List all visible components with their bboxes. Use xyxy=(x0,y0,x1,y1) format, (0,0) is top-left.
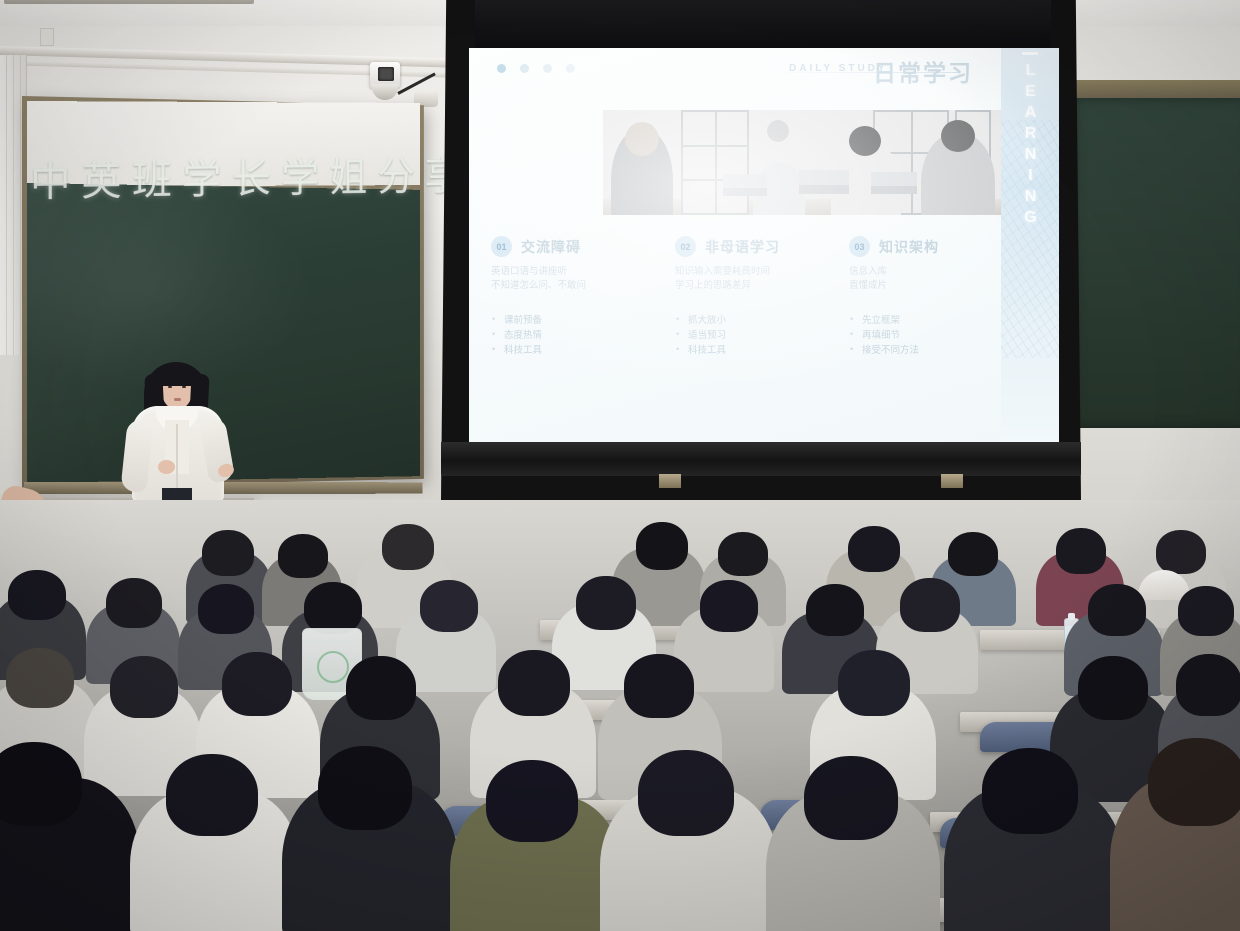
audience-head-r3-5 xyxy=(624,654,694,718)
column-2-bullet-3: 科技工具 xyxy=(675,343,843,358)
audience-head-r4-0 xyxy=(0,742,82,826)
photo-head-2 xyxy=(767,120,789,142)
audience-head-r4-4 xyxy=(638,750,734,836)
audience-head-r1-3 xyxy=(382,524,434,570)
presenter-eye-left xyxy=(168,386,172,388)
column-3-bullet-2: 再填细节 xyxy=(849,328,1017,343)
screen-foot-left xyxy=(659,474,681,488)
column-1-bullet-2: 态度热情 xyxy=(491,328,659,343)
column-3-desc: 信息入库 直懂成片 xyxy=(849,265,1017,293)
column-3-bullet-1: 先立框架 xyxy=(849,313,1017,328)
audience-head-r3-1 xyxy=(110,656,178,718)
presenter-coat-seam xyxy=(176,424,178,496)
presenter-hand-left xyxy=(158,460,175,474)
column-2-desc: 知识输入需要耗费时间 学习上的思路差异 xyxy=(675,265,843,293)
column-3-desc-line-1: 信息入库 xyxy=(849,265,1017,279)
slide-photo xyxy=(603,110,1003,215)
column-3-bullet-3: 接受不同方法 xyxy=(849,343,1017,358)
audience-head-r3-4 xyxy=(498,650,570,716)
lecture-hall-photo: 中英班学长学姐分享 科技工具 科技工具 接受不同方法 DAILY STUDY xyxy=(0,0,1240,931)
audience-head-r2-4 xyxy=(420,580,478,632)
audience-head-r1-5 xyxy=(718,532,768,576)
column-1-title: 交流障碍 xyxy=(521,237,581,257)
column-3-badge: 03 xyxy=(849,236,870,257)
photo-laptop-2 xyxy=(799,170,849,194)
column-2-badge: 02 xyxy=(675,236,696,257)
column-1-desc: 英语口语与讲座听 不知道怎么问、不敢问 xyxy=(491,265,659,293)
column-1-desc-line-1: 英语口语与讲座听 xyxy=(491,265,659,279)
slide-column-3: 03 知识架构 信息入库 直懂成片 先立框架 再填细节 接受不同方法 xyxy=(849,236,1017,358)
audience-head-r2-8 xyxy=(900,578,960,632)
audience-head-r1-8 xyxy=(1056,528,1106,574)
audience-head-r2-1 xyxy=(106,578,162,628)
column-3-header: 03 知识架构 xyxy=(849,236,1017,257)
wall-plate xyxy=(40,28,54,46)
side-panel-bar xyxy=(1022,52,1038,55)
slide-dot-4 xyxy=(566,64,575,73)
column-2-desc-line-1: 知识输入需要耗费时间 xyxy=(675,265,843,279)
audience-head-r1-7 xyxy=(948,532,998,576)
audience-head-r3-8 xyxy=(1176,654,1240,716)
audience-head-r2-10 xyxy=(1178,586,1234,636)
photo-head-4 xyxy=(941,120,975,152)
column-3-title: 知识架构 xyxy=(879,237,939,257)
audience-head-r2-0 xyxy=(8,570,66,620)
column-2-bullets: 抓大放小 适当预习 科技工具 xyxy=(675,313,843,358)
audience-head-r4-7 xyxy=(1148,738,1240,826)
column-2-header: 02 非母语学习 xyxy=(675,236,843,257)
column-2-bullet-1: 抓大放小 xyxy=(675,313,843,328)
audience-head-r4-3 xyxy=(486,760,578,842)
audience-head-r3-0 xyxy=(6,648,74,708)
audience-head-r4-5 xyxy=(804,756,898,840)
audience-head-r2-3 xyxy=(304,582,362,634)
slide-side-panel: LEARNING xyxy=(1001,48,1059,446)
screen-foot-right xyxy=(941,474,963,488)
slide-column-1: 01 交流障碍 英语口语与讲座听 不知道怎么问、不敢问 课前预备 态度热情 科技… xyxy=(491,236,659,358)
audience-head-r1-2 xyxy=(278,534,328,578)
audience-head-r3-2 xyxy=(222,652,292,716)
column-2-bullet-2: 适当预习 xyxy=(675,328,843,343)
audience-head-r2-2 xyxy=(198,584,254,634)
right-blackboard-frame-top xyxy=(1062,80,1240,100)
audience-head-r2-9 xyxy=(1088,584,1146,636)
column-1-bullet-1: 课前预备 xyxy=(491,313,659,328)
screen-bottom-bar xyxy=(441,442,1081,476)
slide-title: 日常学习 xyxy=(873,54,973,88)
audience-head-r4-6 xyxy=(982,748,1078,834)
audience xyxy=(0,500,1240,931)
slide-column-2: 02 非母语学习 知识输入需要耗费时间 学习上的思路差异 抓大放小 适当预习 科… xyxy=(675,236,843,358)
audience-head-r2-6 xyxy=(700,580,758,632)
photo-laptop-3 xyxy=(871,172,917,194)
audience-head-r1-1 xyxy=(202,530,254,576)
projected-slide: DAILY STUDY 日常学习 xyxy=(469,48,1059,446)
audience-head-r3-6 xyxy=(838,650,910,716)
column-1-badge: 01 xyxy=(491,236,512,257)
projection-screen: 科技工具 科技工具 接受不同方法 DAILY STUDY 日常学习 xyxy=(441,0,1081,500)
presenter xyxy=(118,362,234,504)
column-2-title: 非母语学习 xyxy=(705,237,780,257)
audience-head-r2-7 xyxy=(806,584,864,636)
photo-laptop-1 xyxy=(723,174,767,196)
audience-head-r3-3 xyxy=(346,656,416,720)
column-2-desc-line-2: 学习上的思路差异 xyxy=(675,279,843,293)
column-1-bullet-3: 科技工具 xyxy=(491,343,659,358)
column-1-bullets: 课前预备 态度热情 科技工具 xyxy=(491,313,659,358)
camera-lens xyxy=(378,67,394,81)
right-blackboard-surface xyxy=(1062,98,1240,428)
photo-head-1 xyxy=(625,122,659,156)
presenter-mouth xyxy=(174,398,181,401)
slide-dot-3 xyxy=(543,64,552,73)
audience-head-r4-2 xyxy=(318,746,412,830)
column-3-bullets: 先立框架 再填细节 接受不同方法 xyxy=(849,313,1017,358)
column-3-desc-line-2: 直懂成片 xyxy=(849,279,1017,293)
photo-head-3 xyxy=(849,126,881,156)
slide-dot-1 xyxy=(497,64,506,73)
camera-dome xyxy=(372,84,398,100)
photo-window-left xyxy=(681,110,749,215)
audience-head-r1-9 xyxy=(1156,530,1206,574)
audience-head-r4-1 xyxy=(166,754,258,836)
audience-head-r1-6 xyxy=(848,526,900,572)
slide-side-word: LEARNING xyxy=(1021,62,1039,230)
blackboard-white-strip xyxy=(27,101,420,187)
column-1-header: 01 交流障碍 xyxy=(491,236,659,257)
audience-head-r3-7 xyxy=(1078,656,1148,720)
slide-dot-2 xyxy=(520,64,529,73)
audience-head-r1-4 xyxy=(636,522,688,570)
column-1-desc-line-2: 不知道怎么问、不敢问 xyxy=(491,279,659,293)
presenter-eye-right xyxy=(182,386,186,388)
screen-dark-band xyxy=(475,0,1051,48)
slide-progress-dots xyxy=(497,64,575,73)
podium-top xyxy=(4,0,254,4)
audience-head-r2-5 xyxy=(576,576,636,630)
